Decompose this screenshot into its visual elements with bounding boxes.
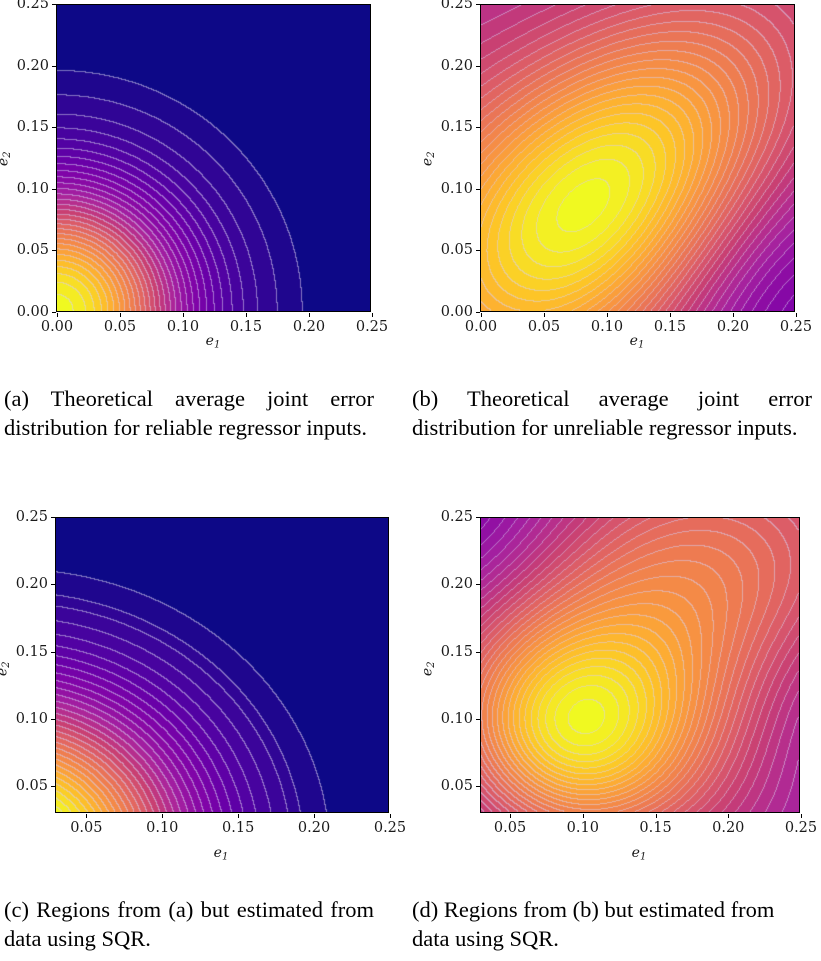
panel-b: e1 e2 0.000.050.100.150.200.250.000.050.… xyxy=(411,0,821,360)
plot-area-b xyxy=(480,4,795,312)
x-tick-label: 0.05 xyxy=(528,319,560,335)
y-tick-label: 0.15 xyxy=(17,119,49,135)
x-axis-label-b: e1 xyxy=(630,333,645,351)
y-tick-label: 0.25 xyxy=(17,0,49,12)
y-tick-mark xyxy=(476,312,480,313)
x-tick-label: 0.20 xyxy=(712,820,744,836)
x-tick-mark xyxy=(796,313,797,317)
y-tick-label: 0.10 xyxy=(16,711,48,727)
figure-contour-grid: e1 e2 0.000.050.100.150.200.250.000.050.… xyxy=(0,0,821,961)
x-tick-label: 0.20 xyxy=(717,319,749,335)
x-tick-mark xyxy=(162,814,163,818)
x-tick-mark xyxy=(481,313,482,317)
y-tick-mark xyxy=(476,66,480,67)
y-tick-label: 0.15 xyxy=(441,119,473,135)
y-tick-label: 0.05 xyxy=(16,778,48,794)
y-axis-label-d: e2 xyxy=(420,661,438,676)
x-tick-mark xyxy=(733,313,734,317)
y-tick-mark xyxy=(52,66,56,67)
x-tick-mark xyxy=(607,313,608,317)
y-tick-mark xyxy=(52,312,56,313)
y-tick-label: 0.05 xyxy=(17,242,49,258)
x-tick-mark xyxy=(510,814,511,818)
plot-area-d xyxy=(480,517,800,813)
x-tick-label: 0.00 xyxy=(465,319,497,335)
contour-canvas-c xyxy=(56,518,388,812)
y-tick-label: 0.10 xyxy=(441,711,473,727)
y-tick-label: 0.15 xyxy=(16,644,48,660)
x-tick-mark xyxy=(544,313,545,317)
y-tick-mark xyxy=(476,652,480,653)
x-tick-label: 0.25 xyxy=(356,319,388,335)
x-tick-label: 0.10 xyxy=(567,820,599,836)
caption-b: (b) Theoretical average joint error dist… xyxy=(412,385,812,443)
contour-canvas-b xyxy=(481,5,794,311)
y-tick-label: 0.10 xyxy=(441,181,473,197)
panel-a: e1 e2 0.000.050.100.150.200.250.000.050.… xyxy=(0,0,410,360)
x-tick-mark xyxy=(246,313,247,317)
y-tick-label: 0.15 xyxy=(441,644,473,660)
y-tick-label: 0.00 xyxy=(441,304,473,320)
x-axis-label-d: e1 xyxy=(632,845,647,863)
x-tick-label: 0.20 xyxy=(298,820,330,836)
y-tick-label: 0.20 xyxy=(441,576,473,592)
x-tick-label: 0.05 xyxy=(494,820,526,836)
contour-canvas-a xyxy=(57,5,370,311)
plot-area-a xyxy=(56,4,371,312)
x-tick-label: 0.10 xyxy=(591,319,623,335)
x-tick-label: 0.10 xyxy=(146,820,178,836)
y-tick-label: 0.20 xyxy=(17,58,49,74)
y-tick-mark xyxy=(52,189,56,190)
y-tick-mark xyxy=(476,250,480,251)
x-tick-label: 0.25 xyxy=(780,319,812,335)
x-tick-label: 0.15 xyxy=(639,820,671,836)
y-tick-mark xyxy=(52,127,56,128)
x-tick-label: 0.25 xyxy=(785,820,817,836)
y-tick-mark xyxy=(476,189,480,190)
y-axis-label-b: e2 xyxy=(420,151,438,166)
y-tick-mark xyxy=(51,652,55,653)
y-tick-mark xyxy=(52,250,56,251)
x-tick-mark xyxy=(372,313,373,317)
x-tick-mark xyxy=(656,814,657,818)
x-tick-mark xyxy=(583,814,584,818)
x-tick-mark xyxy=(670,313,671,317)
x-tick-label: 0.05 xyxy=(70,820,102,836)
y-tick-label: 0.05 xyxy=(441,242,473,258)
caption-a: (a) Theoretical average joint error dist… xyxy=(4,385,374,443)
y-tick-mark xyxy=(51,517,55,518)
x-tick-label: 0.05 xyxy=(104,319,136,335)
y-tick-mark xyxy=(51,786,55,787)
x-axis-label-c: e1 xyxy=(214,845,229,863)
y-tick-label: 0.20 xyxy=(16,576,48,592)
panel-d: e1 e2 0.050.100.150.200.250.050.100.150.… xyxy=(411,500,821,880)
panel-c: e1 e2 0.050.100.150.200.250.050.100.150.… xyxy=(0,500,410,880)
x-tick-label: 0.15 xyxy=(222,820,254,836)
caption-d: (d) Regions from (b) but estimated from … xyxy=(412,896,812,954)
y-tick-label: 0.25 xyxy=(16,509,48,525)
x-tick-mark xyxy=(238,814,239,818)
y-tick-mark xyxy=(476,517,480,518)
x-tick-mark xyxy=(86,814,87,818)
x-tick-label: 0.10 xyxy=(167,319,199,335)
y-tick-label: 0.00 xyxy=(17,304,49,320)
y-tick-label: 0.05 xyxy=(441,778,473,794)
y-tick-label: 0.25 xyxy=(441,509,473,525)
x-tick-mark xyxy=(57,313,58,317)
plot-area-c xyxy=(55,517,389,813)
x-tick-mark xyxy=(183,313,184,317)
x-tick-mark xyxy=(728,814,729,818)
y-tick-label: 0.10 xyxy=(17,181,49,197)
x-tick-mark xyxy=(120,313,121,317)
y-axis-label-a: e2 xyxy=(0,151,13,166)
y-tick-mark xyxy=(476,584,480,585)
y-tick-mark xyxy=(476,127,480,128)
y-tick-label: 0.25 xyxy=(441,0,473,12)
y-tick-mark xyxy=(51,584,55,585)
x-tick-mark xyxy=(390,814,391,818)
contour-canvas-d xyxy=(481,518,799,812)
x-axis-label-a: e1 xyxy=(206,333,221,351)
y-axis-label-c: e2 xyxy=(0,661,12,676)
x-tick-mark xyxy=(314,814,315,818)
x-tick-label: 0.15 xyxy=(654,319,686,335)
caption-c: (c) Regions from (a) but estimated from … xyxy=(4,896,374,954)
x-tick-mark xyxy=(801,814,802,818)
y-tick-mark xyxy=(52,4,56,5)
x-tick-mark xyxy=(309,313,310,317)
y-tick-mark xyxy=(476,786,480,787)
y-tick-mark xyxy=(51,719,55,720)
x-tick-label: 0.20 xyxy=(293,319,325,335)
y-tick-label: 0.20 xyxy=(441,58,473,74)
x-tick-label: 0.15 xyxy=(230,319,262,335)
x-tick-label: 0.25 xyxy=(374,820,406,836)
y-tick-mark xyxy=(476,719,480,720)
y-tick-mark xyxy=(476,4,480,5)
x-tick-label: 0.00 xyxy=(41,319,73,335)
